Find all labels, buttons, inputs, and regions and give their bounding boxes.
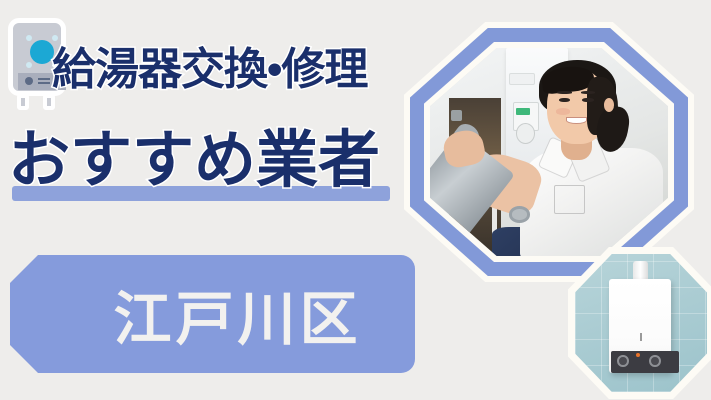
photo-eyebrow-right (581, 91, 595, 94)
product-photo-frame (568, 247, 711, 399)
headline-line-2: おすすめ業者 (8, 124, 380, 198)
technician-photo (430, 48, 668, 256)
photo-mouth (566, 117, 587, 124)
photo-eyebrow-left (557, 91, 571, 94)
headline-block: 給湯器交換•修理 おすすめ業者 (0, 0, 420, 215)
photo-wrench-tail (509, 206, 530, 223)
photo-heater-led (516, 108, 530, 114)
technician-photo-frame (404, 22, 694, 282)
district-badge[interactable]: 江戸川区 (10, 255, 415, 373)
product-indicator-led (636, 353, 640, 357)
headline-line-1: 給湯器交換•修理 (52, 44, 367, 96)
photo-cheek (556, 108, 570, 114)
photo-shirt-pocket (554, 185, 585, 214)
product-knob-right (649, 355, 661, 367)
banner-canvas: 給湯器交換•修理 おすすめ業者 江戸川区 (0, 0, 711, 400)
photo-heater-knob (516, 123, 535, 144)
photo-heater-vent (509, 73, 535, 85)
product-heater-mark (640, 333, 642, 341)
district-badge-label: 江戸川区 (63, 272, 361, 356)
photo-valve (451, 110, 462, 121)
product-photo (575, 254, 707, 392)
